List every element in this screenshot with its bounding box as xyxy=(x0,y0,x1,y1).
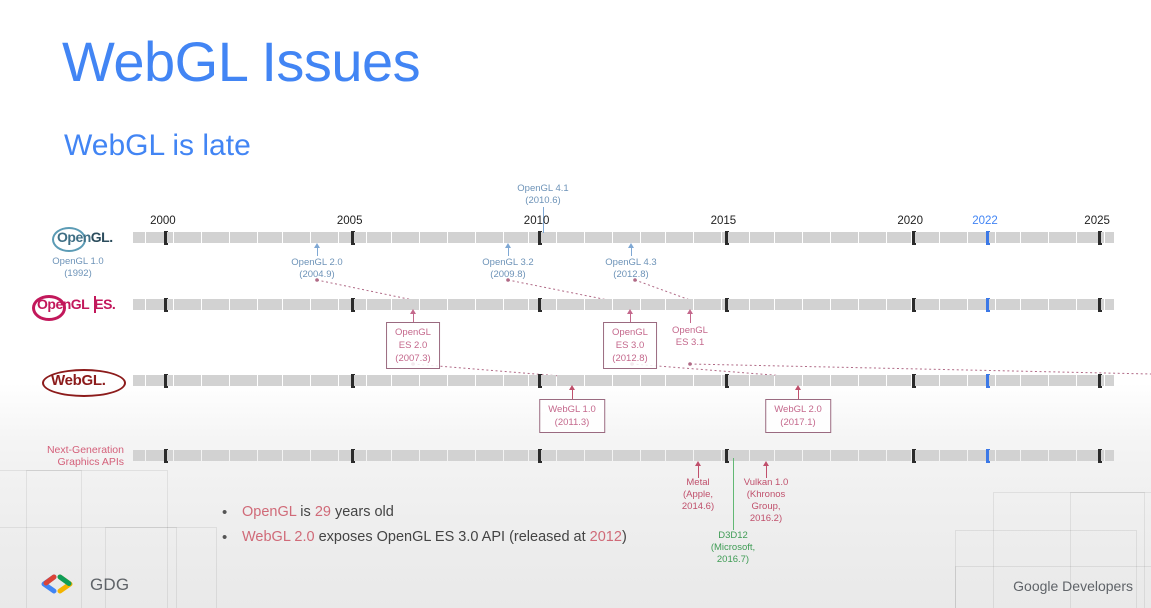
event-opengl-2.0: OpenGL 2.0 (2004.9) xyxy=(291,257,342,281)
list-item: OpenGL is 29 years old xyxy=(218,500,627,525)
opengl-es-3.1-arrow xyxy=(687,309,693,314)
google-developers-label: Google Developers xyxy=(1013,578,1133,594)
opengl-logo-open: Open xyxy=(57,229,91,245)
opengl-4.3-arrow xyxy=(628,243,634,248)
opengl-4.3-leader xyxy=(631,247,632,256)
axis-year-label: 2005 xyxy=(337,215,363,227)
webgl-logo-text: WebGL. xyxy=(51,372,106,389)
axis-year-label: 2010 xyxy=(524,215,550,227)
event-opengl-es-3.0: OpenGL ES 3.0 (2012.8) xyxy=(603,322,657,369)
opengl-2.0-leader xyxy=(317,247,318,256)
nextgen-row-label: Next-Generation Graphics APIs xyxy=(47,444,124,468)
bullet2-mid: exposes OpenGL ES 3.0 API (released at xyxy=(315,529,590,545)
page-title: WebGL Issues xyxy=(62,34,420,90)
bullet2-highlight-webgl: WebGL 2.0 xyxy=(242,529,315,545)
vulkan-arrow xyxy=(763,461,769,466)
opengl-logo: OpenGL. xyxy=(52,226,124,250)
opengl-es-logo-open: Open xyxy=(37,296,71,312)
axis-year-label: 2020 xyxy=(897,215,923,227)
slide-canvas: WebGL Issues WebGL is late OpenGL. OpenG xyxy=(0,0,1151,608)
event-opengl-3.2: OpenGL 3.2 (2009.8) xyxy=(482,257,533,281)
opengl-es-3.0-arrow xyxy=(627,309,633,314)
gdg-label: GDG xyxy=(90,575,129,595)
event-opengl-1.0: OpenGL 1.0 (1992) xyxy=(52,256,103,280)
axis-tick xyxy=(1111,232,1114,243)
opengl-es-logo: OpenGLES. xyxy=(32,293,124,317)
axis-tick xyxy=(1111,450,1114,461)
axis-year-label: 2015 xyxy=(711,215,737,227)
event-d3d12: D3D12 (Microsoft, 2016.7) xyxy=(711,530,755,566)
event-webgl-2.0: WebGL 2.0 (2017.1) xyxy=(765,399,831,433)
event-opengl-4.3: OpenGL 4.3 (2012.8) xyxy=(605,257,656,281)
gdg-branding: GDG xyxy=(38,574,129,596)
gdg-logo-icon xyxy=(38,574,82,596)
decorative-rect xyxy=(955,530,1137,608)
bullet1-post: years old xyxy=(331,504,394,520)
axis-tick xyxy=(1111,375,1114,386)
d3d12-leader xyxy=(733,458,734,530)
list-item: WebGL 2.0 exposes OpenGL ES 3.0 API (rel… xyxy=(218,525,627,550)
timeline-axis-webgl xyxy=(133,375,1112,389)
axis-tick xyxy=(1111,299,1114,310)
webgl-2.0-arrow xyxy=(795,385,801,390)
opengl-es-logo-gl: GL xyxy=(71,296,89,312)
opengl-3.2-arrow xyxy=(505,243,511,248)
bullet1-mid: is xyxy=(296,504,315,520)
bullet-list: OpenGL is 29 years old WebGL 2.0 exposes… xyxy=(218,500,627,550)
axis-year-label: 2000 xyxy=(150,215,176,227)
page-subtitle: WebGL is late xyxy=(64,131,251,161)
webgl-logo: WebGL. xyxy=(42,368,124,394)
event-opengl-es-2.0: OpenGL ES 2.0 (2007.3) xyxy=(386,322,440,369)
event-opengl-es-3.1: OpenGL ES 3.1 xyxy=(672,325,708,349)
axis-year-label: 2025 xyxy=(1084,215,1110,227)
event-webgl-1.0: WebGL 1.0 (2011.3) xyxy=(539,399,605,433)
timeline-axis-opengl xyxy=(133,232,1112,246)
timeline-axis-opengl-es xyxy=(133,299,1112,313)
bullet1-highlight-opengl: OpenGL xyxy=(242,504,296,520)
opengl-2.0-arrow xyxy=(314,243,320,248)
opengl-es-3.1-leader xyxy=(690,313,691,323)
opengl-es-divider xyxy=(94,296,96,313)
bullet2-post: ) xyxy=(622,529,627,545)
bullet1-highlight-age: 29 xyxy=(315,504,331,520)
opengl-es-2.0-arrow xyxy=(410,309,416,314)
axis-year-label: 2022 xyxy=(972,215,998,227)
bullet2-highlight-year: 2012 xyxy=(590,529,622,545)
timeline-axis-nextgen xyxy=(133,450,1112,464)
event-vulkan: Vulkan 1.0 (Khronos Group, 2016.2) xyxy=(744,477,789,525)
opengl-3.2-leader xyxy=(508,247,509,256)
event-metal: Metal (Apple, 2014.6) xyxy=(682,477,714,513)
opengl-logo-gl: GL. xyxy=(91,229,113,245)
metal-arrow xyxy=(695,461,701,466)
event-opengl-4.1: OpenGL 4.1 (2010.6) xyxy=(517,183,568,207)
webgl-1.0-arrow xyxy=(569,385,575,390)
